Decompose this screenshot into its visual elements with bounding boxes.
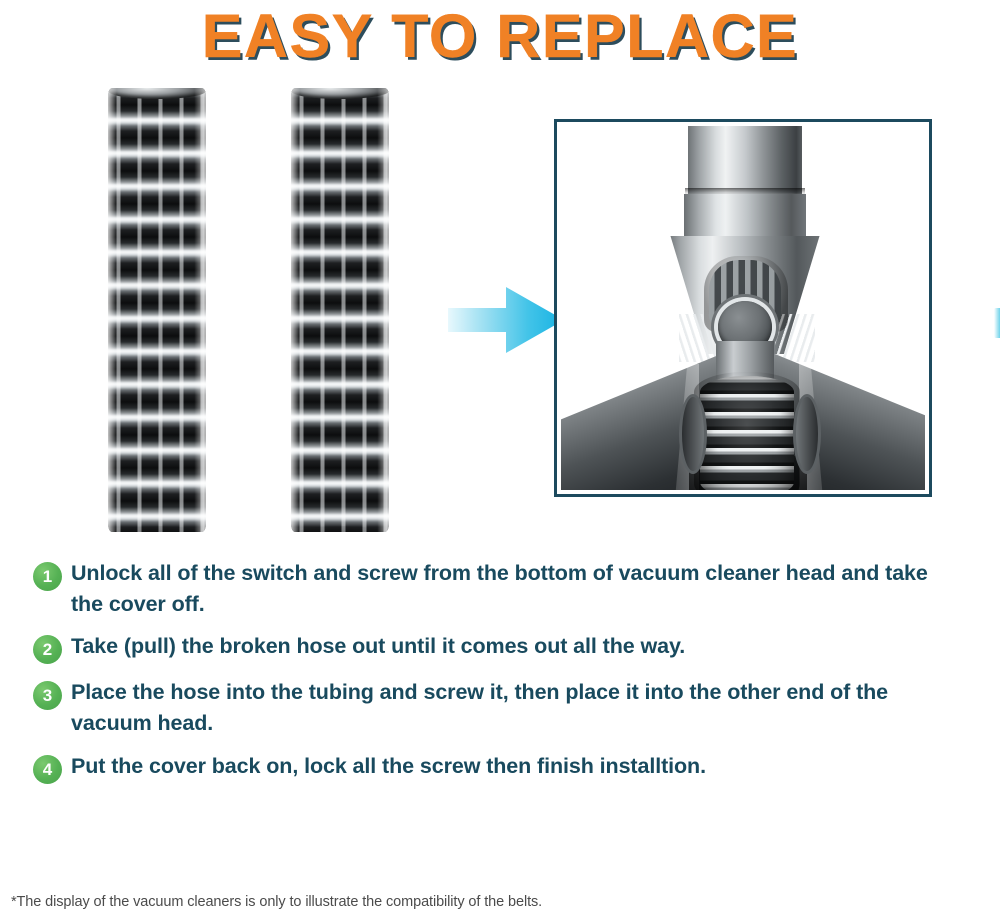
vacuum-head-photo-inner xyxy=(561,126,925,490)
step-badge-2: 2 xyxy=(33,635,62,664)
title-banner: EASY TO REPLACE xyxy=(0,2,1000,70)
cut-off-arrow-edge xyxy=(994,308,1000,338)
list-item: 1 Unlock all of the switch and screw fro… xyxy=(0,558,1000,620)
page-title: EASY TO REPLACE xyxy=(202,2,799,70)
vacuum-ring-right xyxy=(793,394,821,474)
list-item: 4 Put the cover back on, lock all the sc… xyxy=(0,751,1000,784)
list-item: 3 Place the hose into the tubing and scr… xyxy=(0,677,1000,739)
step-text-2: Take (pull) the broken hose out until it… xyxy=(62,631,685,662)
vacuum-head-photo xyxy=(554,119,932,497)
step-badge-1: 1 xyxy=(33,562,62,591)
list-item: 2 Take (pull) the broken hose out until … xyxy=(0,631,1000,664)
vacuum-collar xyxy=(684,194,806,240)
disclaimer-text: *The display of the vacuum cleaners is o… xyxy=(11,893,542,911)
replacement-hose-left xyxy=(108,88,206,532)
step-text-4: Put the cover back on, lock all the scre… xyxy=(62,751,706,782)
instruction-list: 1 Unlock all of the switch and screw fro… xyxy=(0,558,1000,795)
hose-corrugation-right xyxy=(291,88,389,532)
step-text-3: Place the hose into the tubing and screw… xyxy=(62,677,937,739)
right-arrow-icon xyxy=(448,281,564,359)
hose-corrugation-left xyxy=(108,88,206,532)
vacuum-ring-left xyxy=(679,394,707,474)
step-badge-4: 4 xyxy=(33,755,62,784)
step-text-1: Unlock all of the switch and screw from … xyxy=(62,558,937,620)
replacement-hose-right xyxy=(291,88,389,532)
step-badge-3: 3 xyxy=(33,681,62,710)
vacuum-bellows-shading xyxy=(694,372,800,490)
